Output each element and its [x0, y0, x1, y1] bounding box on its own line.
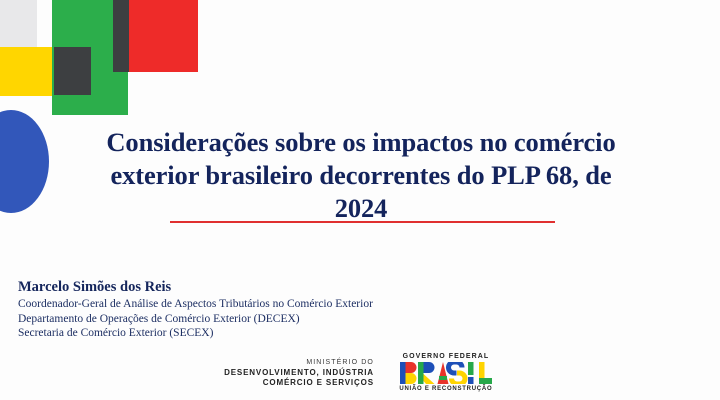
uniao-reconstrucao-label: UNIÃO E RECONSTRUÇÃO [396, 385, 496, 394]
decor-red-rectangle [128, 0, 198, 72]
title-line-1: Considerações sobre os impactos no comér… [75, 126, 647, 159]
footer-logos: MINISTÉRIO DO DESENVOLVIMENTO, INDÚSTRIA… [0, 352, 720, 394]
brasil-government-logo: GOVERNO FEDERAL [396, 352, 496, 394]
author-block: Marcelo Simões dos Reis Coordenador-Gera… [18, 278, 373, 341]
decor-yellow-rectangle [0, 47, 52, 96]
decor-dark-column [113, 0, 129, 72]
author-role: Coordenador-Geral de Análise de Aspectos… [18, 297, 373, 312]
ministry-logo: MINISTÉRIO DO DESENVOLVIMENTO, INDÚSTRIA… [224, 358, 374, 389]
title-line-2: exterior brasileiro decorrentes do PLP 6… [75, 159, 647, 192]
slide-title: Considerações sobre os impactos no comér… [75, 126, 647, 225]
brasil-wordmark-icon [400, 362, 492, 384]
decor-dark-square [54, 47, 91, 95]
decor-blue-circle [0, 110, 49, 213]
author-secretariat: Secretaria de Comércio Exterior (SECEX) [18, 326, 373, 341]
title-underline-rule [170, 221, 555, 223]
decor-gray-band [0, 0, 37, 47]
governo-federal-label: GOVERNO FEDERAL [396, 352, 496, 361]
presentation-slide: Considerações sobre os impactos no comér… [0, 0, 720, 400]
author-department: Departamento de Operações de Comércio Ex… [18, 312, 373, 327]
ministry-line-2: DESENVOLVIMENTO, INDÚSTRIA [224, 368, 374, 379]
author-name: Marcelo Simões dos Reis [18, 278, 373, 296]
ministry-line-1: MINISTÉRIO DO [224, 358, 374, 368]
ministry-line-3: COMÉRCIO E SERVIÇOS [224, 378, 374, 389]
